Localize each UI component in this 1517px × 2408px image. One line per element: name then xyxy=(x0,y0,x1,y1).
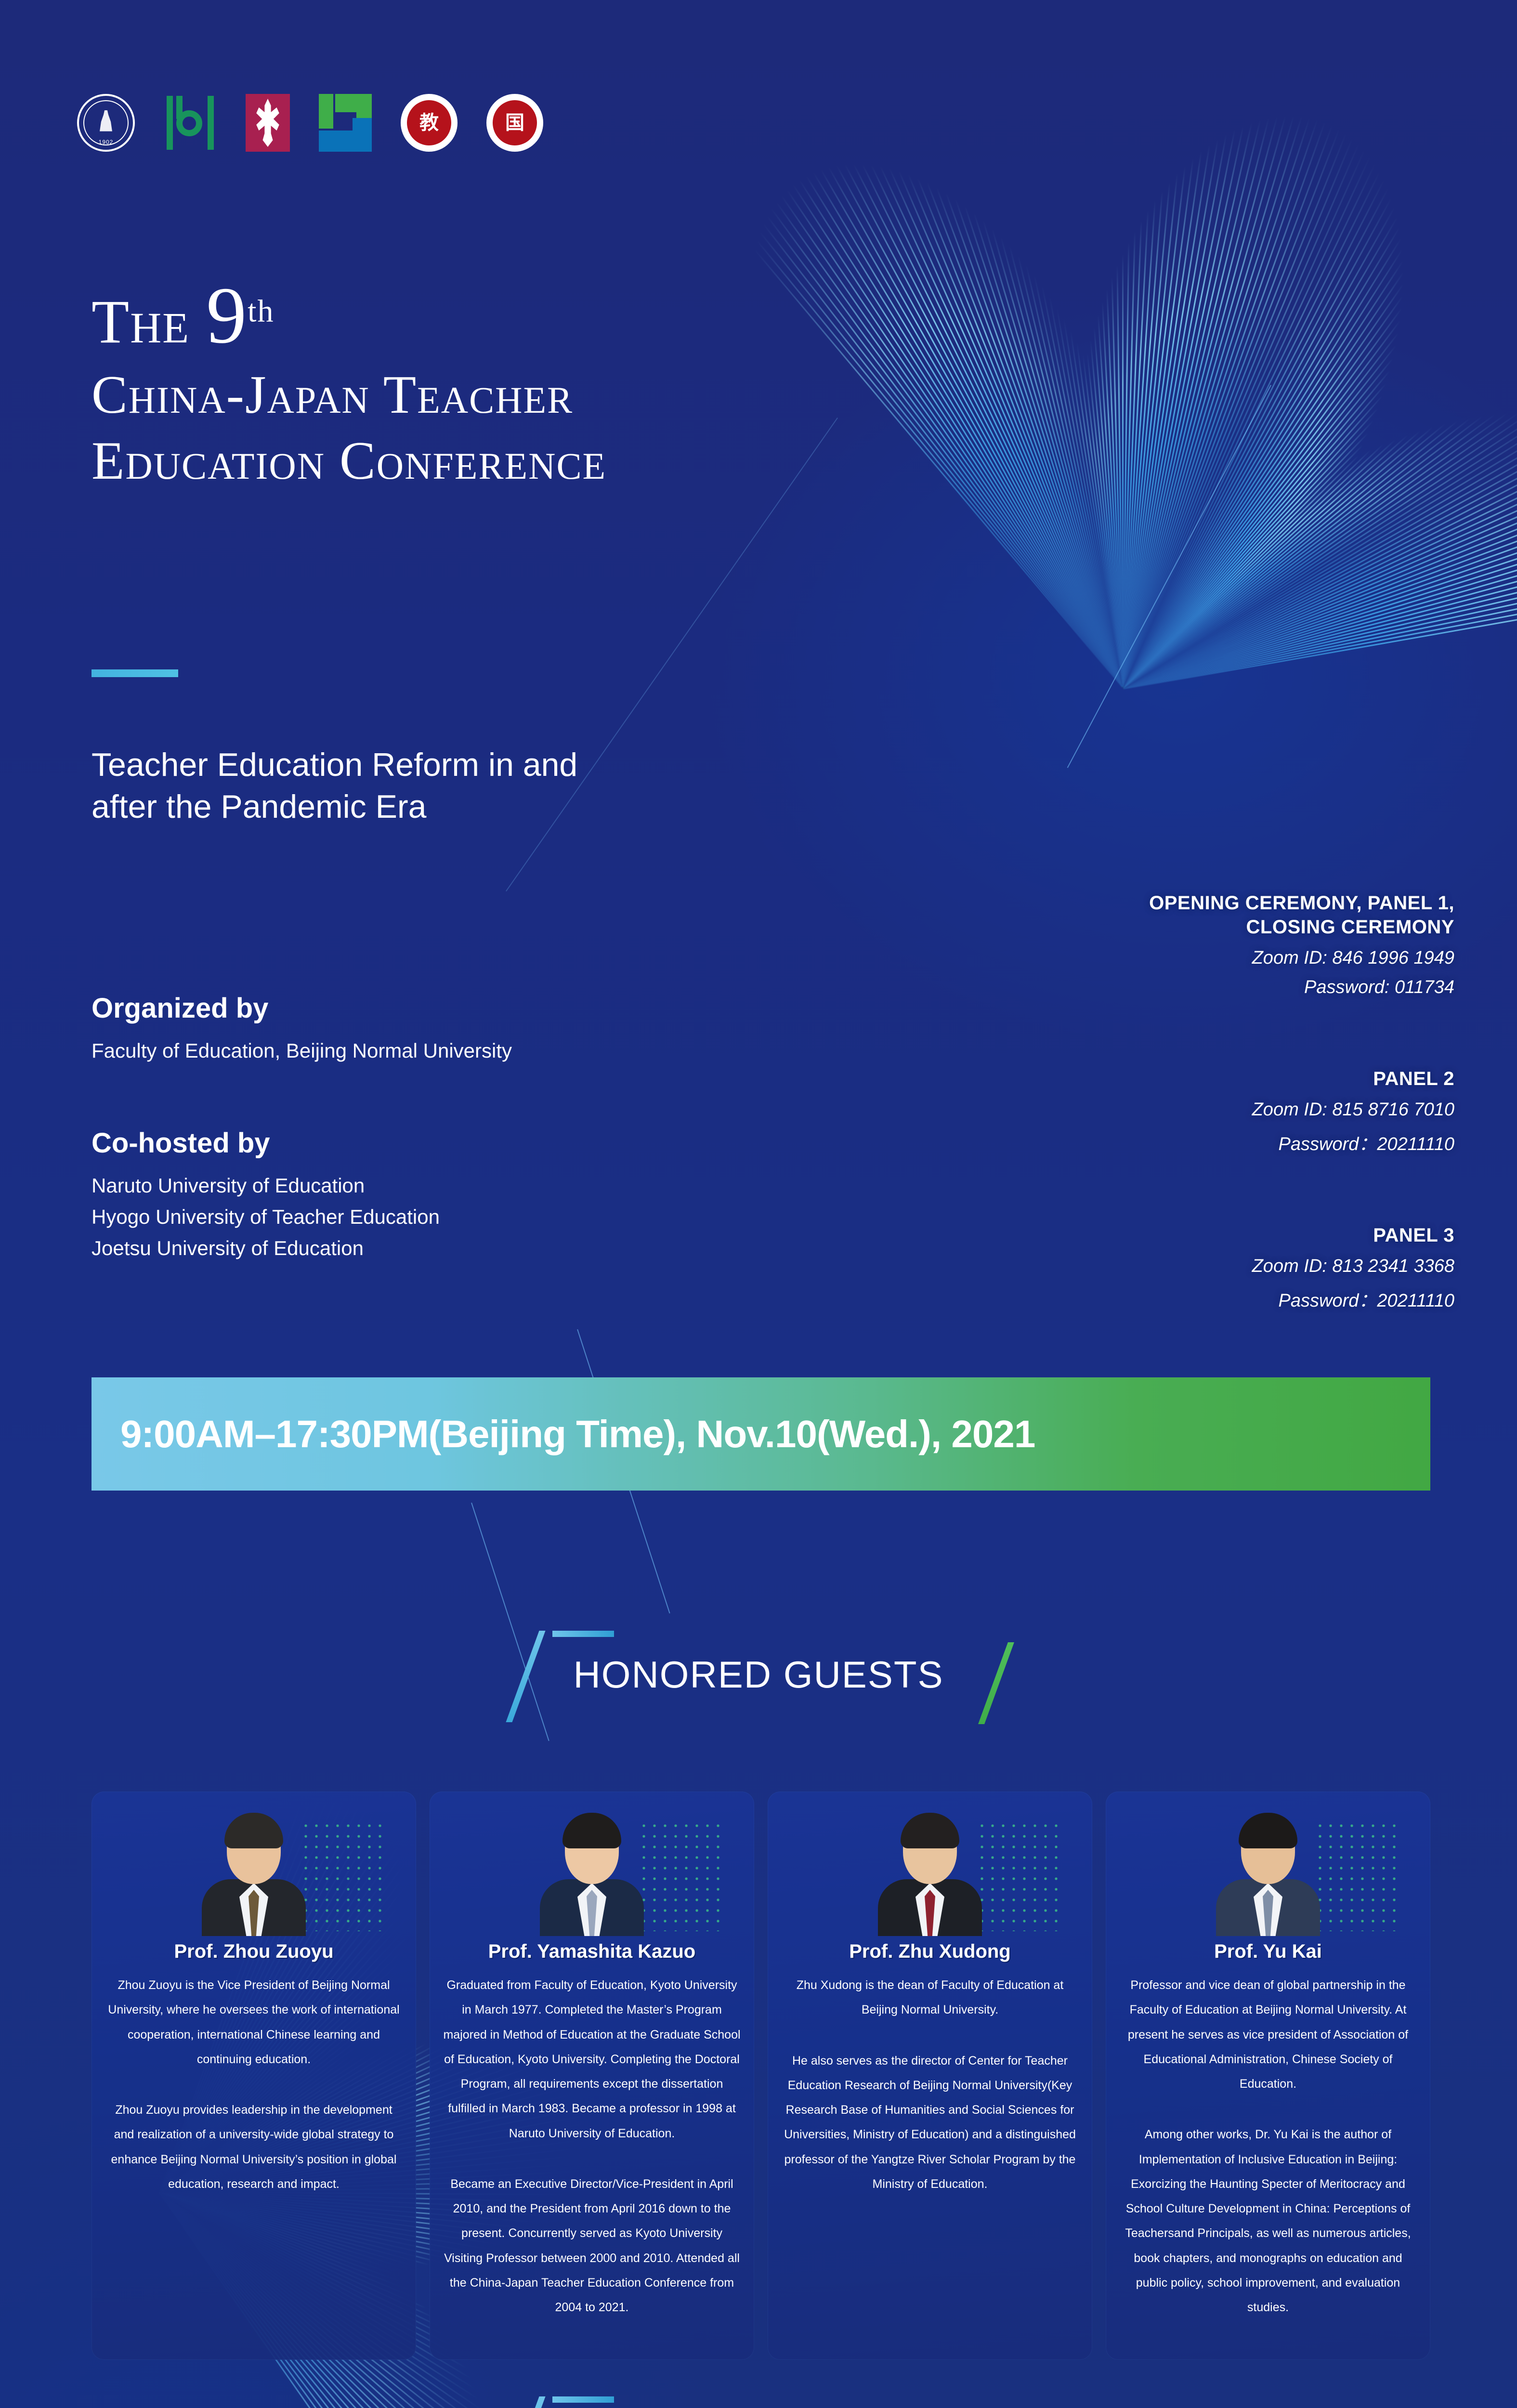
card-photo xyxy=(780,1792,1080,1936)
card-bio-paragraph: Zhou Zuoyu is the Vice President of Beij… xyxy=(104,1973,404,2072)
zoom-password: Password：20211110 xyxy=(1252,1285,1454,1312)
faculty-of-education-bnu-seal: 教 xyxy=(401,94,458,152)
dot-pattern-decoration xyxy=(301,1820,387,1931)
zoom-password: Password：20211110 xyxy=(1252,1129,1454,1155)
title-underline-rule xyxy=(92,669,178,677)
logo-year: 1902 xyxy=(99,139,114,145)
card-photo xyxy=(104,1792,404,1936)
bell-icon xyxy=(97,110,115,135)
card-photo xyxy=(442,1792,742,1936)
cohost-item: Hyogo University of Teacher Education xyxy=(92,1201,440,1232)
organized-by-block: Organized by Faculty of Education, Beiji… xyxy=(92,992,512,1066)
cohost-item: Joetsu University of Education xyxy=(92,1232,440,1264)
title-the: The xyxy=(92,288,190,356)
cohosted-by-block: Co-hosted by Naruto University of Educat… xyxy=(92,1127,440,1264)
chevron-left-decoration xyxy=(523,2396,614,2408)
dot-pattern-decoration xyxy=(977,1820,1063,1931)
zoom-id: Zoom ID: 813 2341 3368 xyxy=(1252,1256,1454,1277)
cohost-item: Naruto University of Education xyxy=(92,1170,440,1201)
card-bio-paragraph: Graduated from Faculty of Education, Kyo… xyxy=(442,1973,742,2146)
person-bio: Professor and vice dean of global partne… xyxy=(1118,1973,1418,2320)
seal-glyph: 国 xyxy=(505,113,524,132)
zoom-panel-heading-line1: PANEL 3 xyxy=(1252,1223,1454,1247)
section-header-keynote-speakers: KEYNOTE SPEAKERS xyxy=(0,2394,1517,2408)
card-photo xyxy=(1118,1792,1418,1936)
person-bio: Zhu Xudong is the dean of Faculty of Edu… xyxy=(780,1973,1080,2197)
zoom-id: Zoom ID: 846 1996 1949 xyxy=(1149,948,1454,968)
person-name: Prof. Yu Kai xyxy=(1118,1941,1418,1963)
conference-subtitle: Teacher Education Reform in and after th… xyxy=(92,744,577,828)
zoom-panel-heading-line1: PANEL 2 xyxy=(1252,1067,1454,1091)
person-card[interactable]: Prof. Yamashita KazuoGraduated from Facu… xyxy=(430,1792,754,2360)
flower-icon xyxy=(252,99,284,147)
kulun-international-college-seal: 国 xyxy=(486,94,543,152)
person-card[interactable]: Prof. Zhu XudongZhu Xudong is the dean o… xyxy=(768,1792,1092,2360)
honored-guests-grid: Prof. Zhou ZuoyuZhou Zuoyu is the Vice P… xyxy=(92,1792,1430,2360)
seal-glyph: 教 xyxy=(419,113,439,132)
section-header-honored-guests: HONORED GUESTS xyxy=(0,1628,1517,1719)
joetsu-university-logo xyxy=(319,94,372,152)
section-title: HONORED GUESTS xyxy=(0,1653,1517,1697)
card-bio-paragraph: Zhu Xudong is the dean of Faculty of Edu… xyxy=(780,1973,1080,2023)
person-card[interactable]: Prof. Zhou ZuoyuZhou Zuoyu is the Vice P… xyxy=(92,1792,416,2360)
zoom-password: Password: 011734 xyxy=(1149,977,1454,998)
naruto-university-logo xyxy=(164,94,217,152)
card-bio-paragraph: He also serves as the director of Center… xyxy=(780,2049,1080,2197)
card-bio-paragraph: Became an Executive Director/Vice-Presid… xyxy=(442,2172,742,2320)
dot-pattern-decoration xyxy=(639,1820,725,1931)
date-time-banner: 9:00AM–17:30PM(Beijing Time), Nov.10(Wed… xyxy=(92,1377,1430,1491)
title-line-3: Education Conference xyxy=(92,433,606,488)
zoom-panel-heading-line1: OPENING CEREMONY, PANEL 1, xyxy=(1149,891,1454,915)
person-name: Prof. Zhou Zuoyu xyxy=(104,1941,404,1963)
person-card[interactable]: Prof. Yu KaiProfessor and vice dean of g… xyxy=(1106,1792,1430,2360)
card-bio-paragraph: Zhou Zuoyu provides leadership in the de… xyxy=(104,2098,404,2197)
person-name: Prof. Zhu Xudong xyxy=(780,1941,1080,1963)
card-bio-paragraph: Among other works, Dr. Yu Kai is the aut… xyxy=(1118,2122,1418,2320)
zoom-id: Zoom ID: 815 8716 7010 xyxy=(1252,1099,1454,1120)
zoom-panel-opening: OPENING CEREMONY, PANEL 1, CLOSING CEREM… xyxy=(1149,891,1454,998)
zoom-panel-2: PANEL 2 Zoom ID: 815 8716 7010 Password：… xyxy=(1252,1067,1454,1155)
person-bio: Graduated from Faculty of Education, Kyo… xyxy=(442,1973,742,2320)
hyogo-university-logo xyxy=(246,94,290,152)
cohosted-by-label: Co-hosted by xyxy=(92,1127,440,1159)
card-bio-paragraph: Professor and vice dean of global partne… xyxy=(1118,1973,1418,2096)
date-time-text: 9:00AM–17:30PM(Beijing Time), Nov.10(Wed… xyxy=(120,1412,1035,1456)
title-ordinal-suffix: th xyxy=(248,293,274,328)
avatar xyxy=(537,1805,647,1936)
zoom-panel-3: PANEL 3 Zoom ID: 813 2341 3368 Password：… xyxy=(1252,1223,1454,1312)
avatar xyxy=(875,1805,985,1936)
avatar xyxy=(199,1805,309,1936)
zoom-panel-heading-line2: CLOSING CEREMONY xyxy=(1149,915,1454,939)
logo-bar: 1902 教 国 xyxy=(77,94,543,152)
subtitle-line-2: after the Pandemic Era xyxy=(92,786,577,828)
person-bio: Zhou Zuoyu is the Vice President of Beij… xyxy=(104,1973,404,2197)
title-edition-number: 9 xyxy=(206,271,248,360)
conference-title: The9th China-Japan Teacher Education Con… xyxy=(92,275,606,488)
subtitle-line-1: Teacher Education Reform in and xyxy=(92,744,577,786)
organized-by-label: Organized by xyxy=(92,992,512,1024)
bnu-seal-logo: 1902 xyxy=(77,94,135,152)
organized-by-value: Faculty of Education, Beijing Normal Uni… xyxy=(92,1035,512,1066)
person-name: Prof. Yamashita Kazuo xyxy=(442,1941,742,1963)
dot-pattern-decoration xyxy=(1315,1820,1401,1931)
title-line-2: China-Japan Teacher xyxy=(92,367,606,422)
avatar xyxy=(1213,1805,1323,1936)
